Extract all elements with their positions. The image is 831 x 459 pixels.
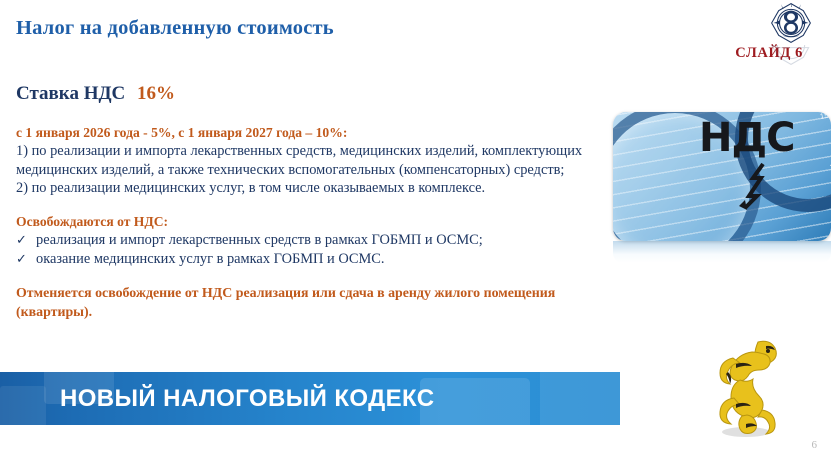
banner-tile bbox=[540, 372, 620, 425]
effective-dates-heading: с 1 января 2026 года - 5%, с 1 января 20… bbox=[16, 124, 608, 142]
list-item: ✓ оказание медицинских услуг в рамках ГО… bbox=[16, 250, 608, 269]
slide-canvas: Налог на добавленную стоимость СЛАЙД 6 bbox=[0, 0, 831, 459]
list-item-label: оказание медицинских услуг в рамках ГОБМ… bbox=[36, 250, 384, 269]
banner-title: НОВЫЙ НАЛОГОВЫЙ КОДЕКС bbox=[60, 385, 434, 413]
vat-rate-label: Ставка НДС bbox=[16, 83, 125, 104]
list-item: 2) по реализации медицинских услуг, в то… bbox=[16, 179, 608, 198]
state-emblem-icon bbox=[769, 1, 813, 45]
vat-magnifier-image: 3,423.00234,423.0031,680.0015,392.00192.… bbox=[613, 112, 831, 241]
spacer bbox=[16, 198, 608, 213]
page-title: Налог на добавленную стоимость bbox=[16, 17, 334, 40]
exempt-heading: Освобождаются от НДС: bbox=[16, 213, 608, 231]
list-item: ✓ реализация и импорт лекарственных сред… bbox=[16, 231, 608, 250]
banner-tile bbox=[0, 386, 46, 425]
golden-barys-ornament bbox=[706, 336, 792, 441]
list-item: 1) по реализации и импорта лекарственных… bbox=[16, 142, 608, 179]
checkmark-icon: ✓ bbox=[16, 250, 36, 269]
body-content: с 1 января 2026 года - 5%, с 1 января 20… bbox=[16, 124, 608, 322]
vat-rate-line: Ставка НДС 16% bbox=[16, 83, 175, 105]
cancellation-note: Отменяется освобождение от НДС реализаци… bbox=[16, 284, 608, 322]
vat-image-canvas: 3,423.00234,423.0031,680.0015,392.00192.… bbox=[613, 112, 831, 241]
spacer bbox=[16, 269, 608, 284]
banner-tile bbox=[420, 378, 530, 425]
state-emblem-reflection bbox=[769, 45, 813, 67]
list-item-label: реализация и импорт лекарственных средст… bbox=[36, 231, 483, 250]
page-number: 6 bbox=[812, 439, 818, 451]
vat-overlay-text: НДС bbox=[699, 118, 794, 158]
down-arrow-icon bbox=[733, 162, 777, 214]
checkmark-icon: ✓ bbox=[16, 231, 36, 250]
bottom-banner: НОВЫЙ НАЛОГОВЫЙ КОДЕКС bbox=[0, 372, 620, 425]
vat-rate-value: 16% bbox=[137, 83, 175, 104]
vat-image-reflection bbox=[613, 241, 831, 263]
